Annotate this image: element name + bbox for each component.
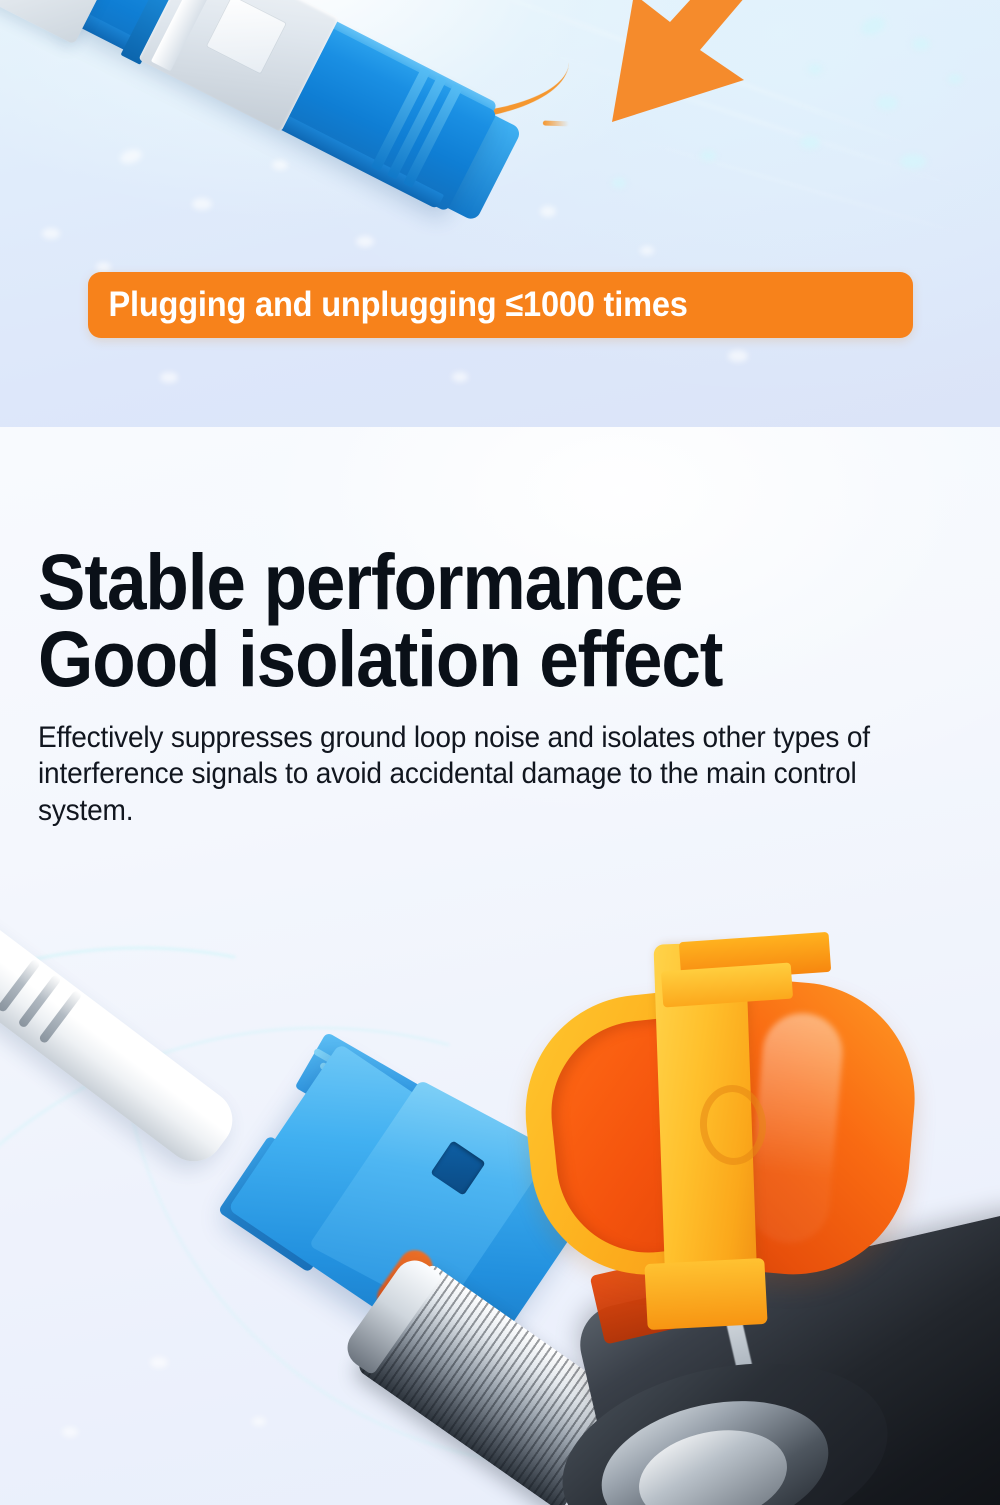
bokeh-particle — [900, 154, 926, 169]
description-text: Effectively suppresses ground loop noise… — [38, 720, 908, 830]
bokeh-particle — [858, 14, 888, 39]
orange-yellow-dust-cap — [520, 935, 920, 1355]
bokeh-particle — [96, 262, 111, 272]
bokeh-particle — [808, 64, 822, 74]
headline-line-2: Good isolation effect — [38, 620, 875, 697]
bokeh-particle — [948, 74, 962, 84]
bokeh-particle — [912, 38, 930, 50]
bokeh-particle — [252, 1417, 266, 1426]
bokeh-particle — [540, 206, 556, 217]
bokeh-particle — [800, 136, 820, 149]
light-ray — [607, 131, 992, 243]
bokeh-particle — [728, 350, 748, 362]
bokeh-particle — [42, 228, 60, 239]
bokeh-particle — [612, 178, 626, 188]
bokeh-particle — [452, 372, 468, 382]
down-left-arrow-orange — [604, 0, 780, 122]
bokeh-particle — [640, 246, 654, 255]
page-title: Stable performance Good isolation effect — [38, 543, 875, 698]
top-hero-panel: Plugging and unplugging ≤1000 times — [0, 0, 1000, 427]
bokeh-particle — [876, 96, 898, 110]
bokeh-particle — [160, 372, 178, 383]
headline-line-1: Stable performance — [38, 537, 682, 626]
copy-block: Stable performance Good isolation effect… — [38, 543, 968, 830]
feature-banner-text: Plugging and unplugging ≤1000 times — [88, 285, 688, 325]
cap-foot — [644, 1258, 767, 1330]
product-feature-page: Plugging and unplugging ≤1000 times Stab… — [0, 0, 1000, 1505]
bokeh-particle — [700, 150, 716, 161]
feature-banner: Plugging and unplugging ≤1000 times — [88, 272, 913, 338]
bokeh-particle — [62, 1427, 78, 1437]
